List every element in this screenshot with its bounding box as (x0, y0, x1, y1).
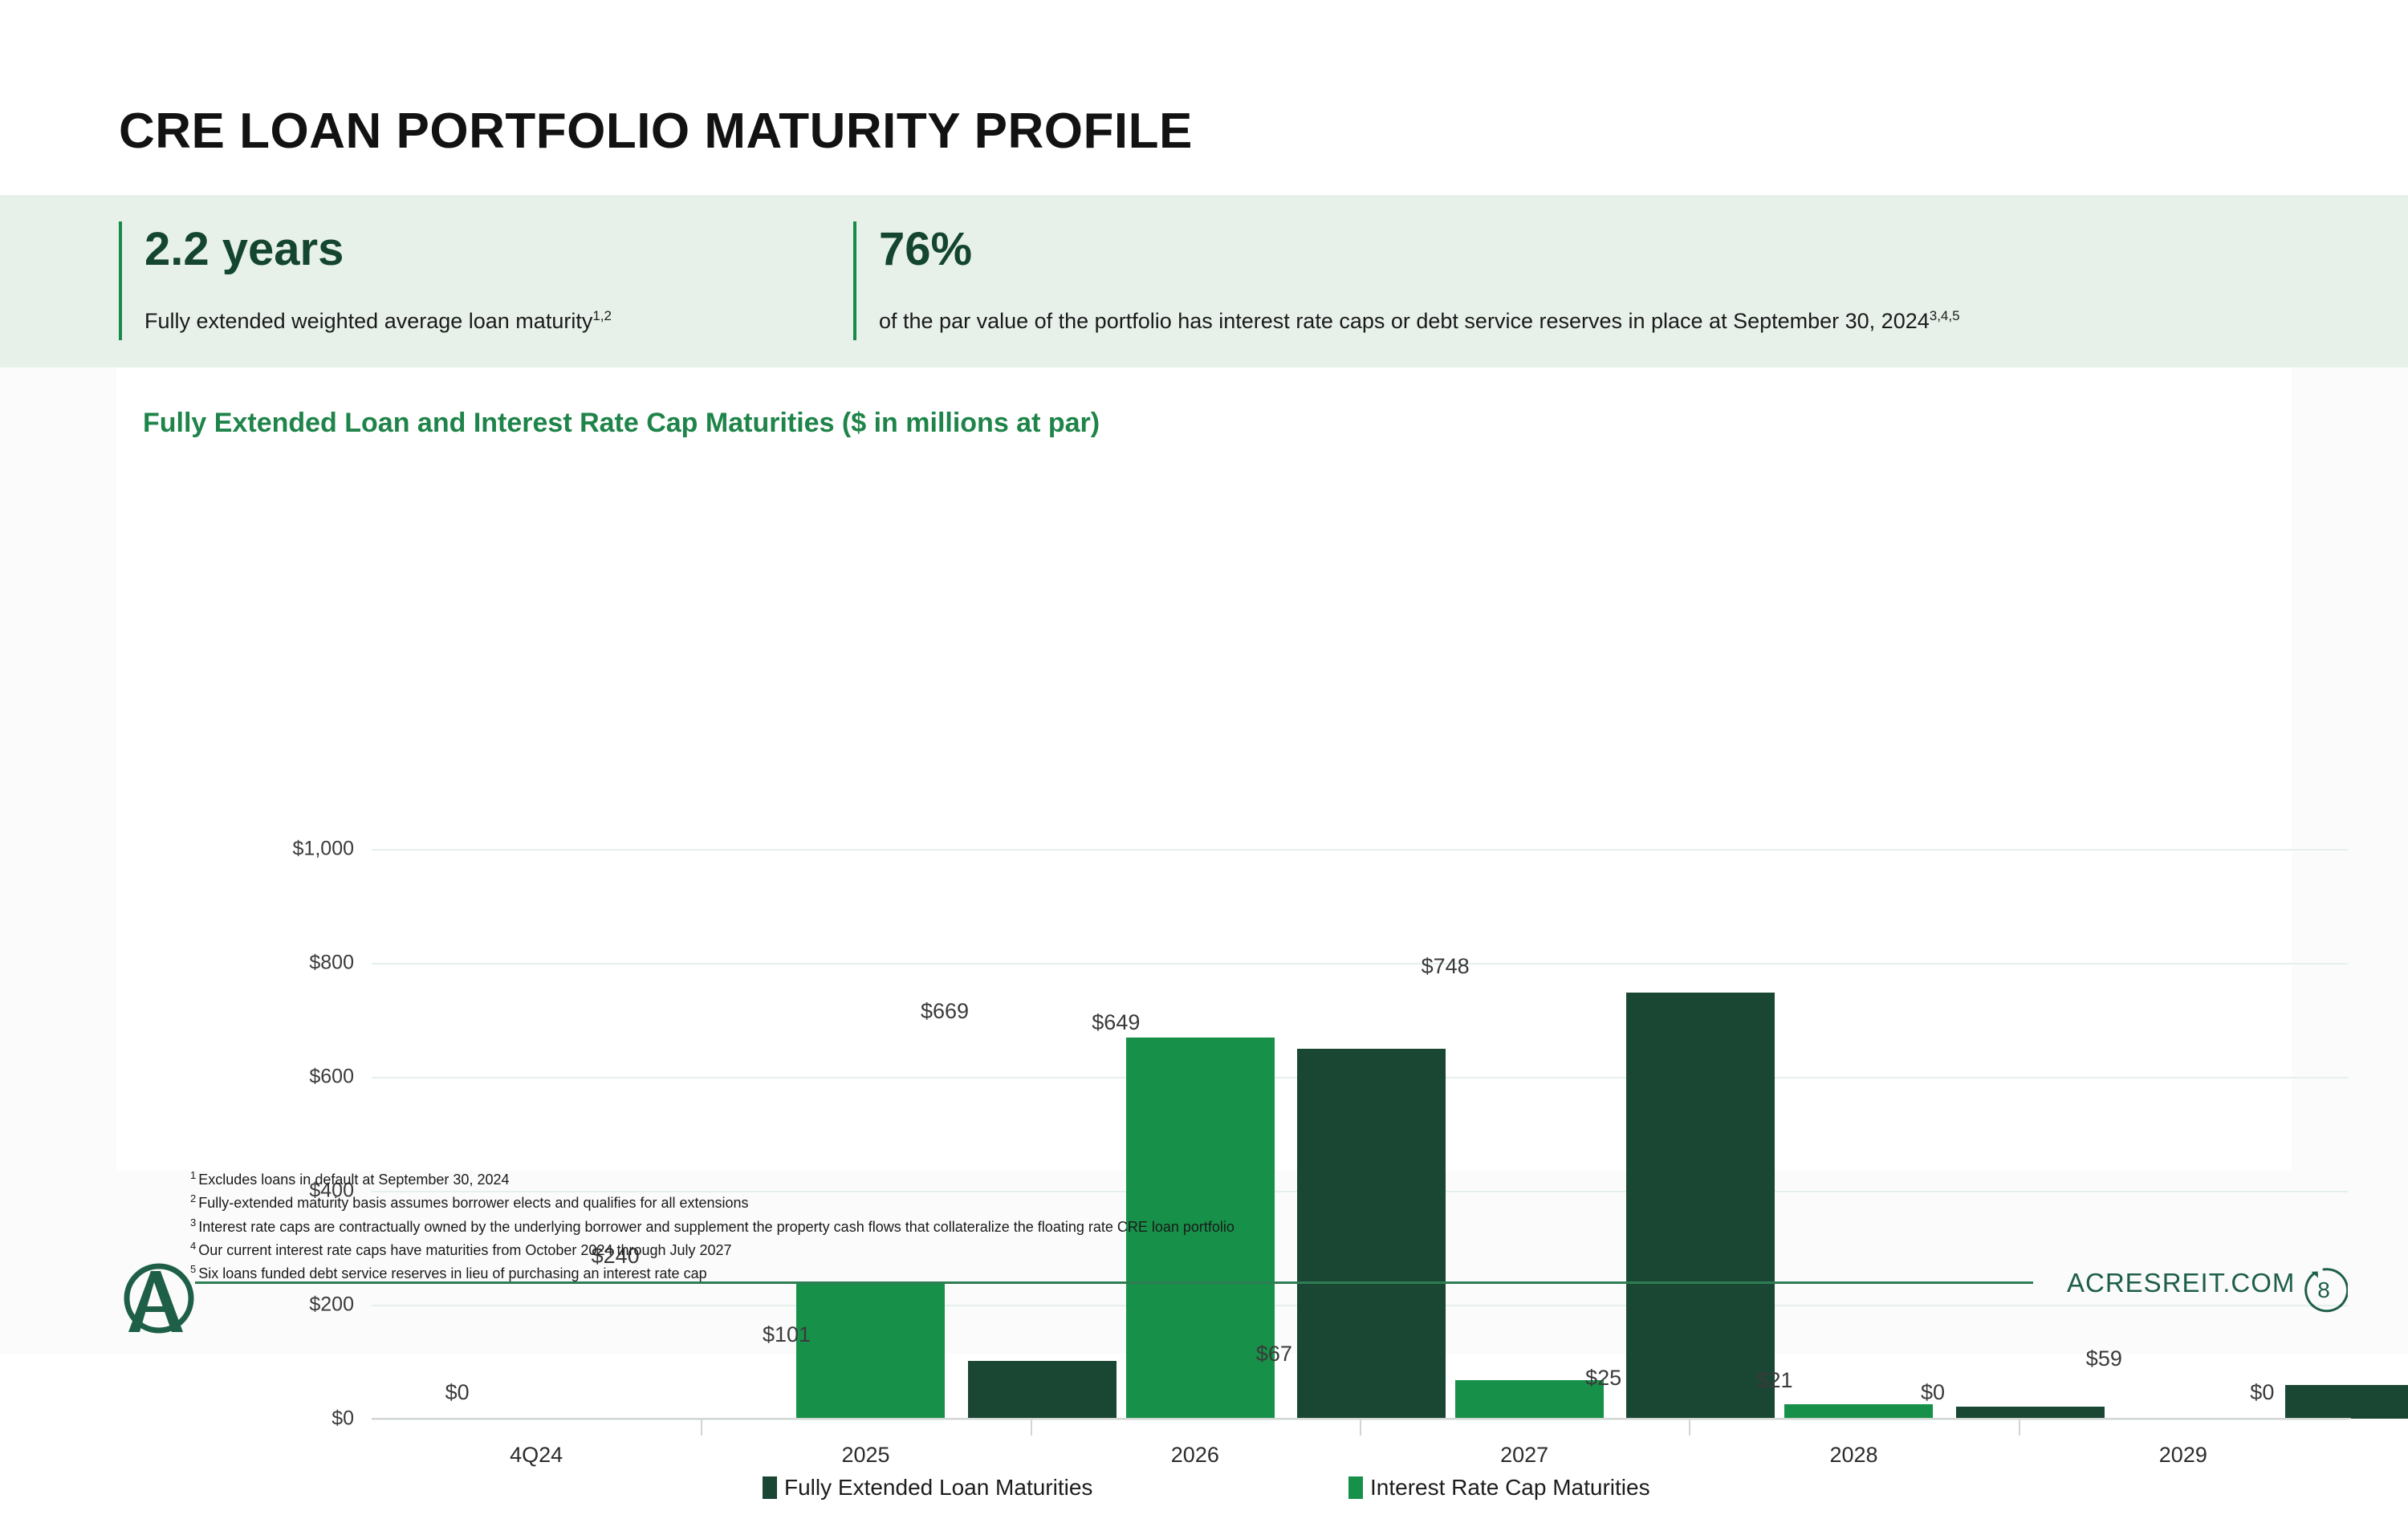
bar-2029-loan[interactable] (2285, 1385, 2408, 1419)
legend-item-cap-maturities[interactable]: Interest Rate Cap Maturities (1348, 1475, 1650, 1501)
page-number: 8 (2300, 1266, 2348, 1314)
bar-value-label: $21 (1756, 1368, 1792, 1393)
x-axis-tick (1360, 1419, 1361, 1436)
bar-value-label: $25 (1585, 1366, 1621, 1391)
legend-swatch-icon (1348, 1476, 1363, 1499)
footnote: 1Excludes loans in default at September … (190, 1168, 1956, 1191)
x-axis-category-label: 2027 (1500, 1443, 1548, 1468)
chart-legend: Fully Extended Loan MaturitiesInterest R… (116, 1475, 2292, 1523)
footnote-text: Six loans funded debt service reserves i… (198, 1265, 706, 1281)
gridline (372, 963, 2348, 965)
stat-description-text: of the par value of the portfolio has in… (879, 309, 1930, 333)
stat-card-loan-maturity: 2.2 years Fully extended weighted averag… (119, 221, 344, 340)
legend-swatch-icon (763, 1476, 777, 1499)
bar-2025-loan[interactable] (968, 1361, 1117, 1419)
bar-value-label: $59 (2086, 1346, 2122, 1371)
footnote: 4Our current interest rate caps have mat… (190, 1238, 1956, 1261)
bar-value-label: $0 (445, 1380, 470, 1405)
footnote: 3Interest rate caps are contractually ow… (190, 1215, 1956, 1238)
stat-value-loan-maturity: 2.2 years (144, 226, 344, 273)
stat-value-rate-caps: 76% (879, 226, 972, 273)
footnote-marker: 1 (190, 1169, 196, 1181)
x-axis-tick (1689, 1419, 1690, 1436)
page-title: CRE LOAN PORTFOLIO MATURITY PROFILE (119, 103, 1193, 160)
acres-logo-icon (112, 1258, 202, 1348)
x-axis-category-label: 4Q24 (510, 1443, 563, 1468)
footer-website: ACRESREIT.COM (2067, 1268, 2295, 1298)
x-axis-tick (1031, 1419, 1032, 1436)
footer-divider (195, 1281, 2033, 1284)
bar-value-label: $748 (1422, 954, 1470, 979)
y-axis-tick-label: $1,000 (145, 838, 354, 861)
stat-footnote-ref: 3,4,5 (1930, 308, 1960, 323)
footnote-marker: 2 (190, 1192, 196, 1204)
bar-value-label: $669 (921, 999, 969, 1024)
x-axis-baseline (372, 1418, 2351, 1419)
footnote-marker: 3 (190, 1216, 196, 1229)
chart-panel: Fully Extended Loan and Interest Rate Ca… (116, 368, 2292, 1171)
bar-2026-cap[interactable] (1455, 1380, 1604, 1419)
bar-value-label: $649 (1092, 1010, 1140, 1035)
footnote-text: Our current interest rate caps have matu… (198, 1242, 731, 1258)
x-axis-category-label: 2026 (1171, 1443, 1219, 1468)
stat-card-rate-caps: 76% of the par value of the portfolio ha… (853, 221, 972, 340)
x-axis-category-label: 2025 (841, 1443, 889, 1468)
footnote: 2Fully-extended maturity basis assumes b… (190, 1191, 1956, 1214)
bar-2027-cap[interactable] (1784, 1404, 1933, 1419)
y-axis-tick-label: $0 (145, 1407, 354, 1431)
bar-2028-loan[interactable] (1956, 1407, 2105, 1419)
footnotes: 1Excludes loans in default at September … (190, 1168, 1956, 1285)
x-axis-tick (701, 1419, 702, 1436)
bar-value-label: $0 (1921, 1380, 1945, 1405)
x-axis-tick (2019, 1419, 2020, 1436)
x-axis-category-label: 2028 (1829, 1443, 1877, 1468)
legend-label: Fully Extended Loan Maturities (784, 1475, 1092, 1501)
bar-value-label: $0 (2250, 1380, 2274, 1405)
footnote-marker: 4 (190, 1240, 196, 1252)
stat-footnote-ref: 1,2 (592, 308, 612, 323)
x-axis-category-label: 2029 (2159, 1443, 2207, 1468)
highlight-band: 2.2 years Fully extended weighted averag… (0, 195, 2408, 368)
footnote-text: Excludes loans in default at September 3… (198, 1172, 509, 1188)
plot-area (372, 849, 2348, 1419)
y-axis-tick-label: $600 (145, 1066, 354, 1089)
legend-label: Interest Rate Cap Maturities (1370, 1475, 1650, 1501)
stat-description-text: Fully extended weighted average loan mat… (144, 309, 592, 333)
stat-description-loan-maturity: Fully extended weighted average loan mat… (144, 308, 612, 334)
gridline (372, 849, 2348, 851)
bar-value-label: $101 (763, 1322, 811, 1347)
bar-4Q24-cap[interactable] (796, 1282, 945, 1419)
y-axis-tick-label: $800 (145, 952, 354, 975)
legend-item-loan-maturities[interactable]: Fully Extended Loan Maturities (763, 1475, 1092, 1501)
chart-title: Fully Extended Loan and Interest Rate Ca… (143, 408, 1100, 439)
stat-description-rate-caps: of the par value of the portfolio has in… (879, 308, 1960, 334)
bar-value-label: $67 (1256, 1342, 1292, 1367)
footnote-text: Fully-extended maturity basis assumes bo… (198, 1195, 748, 1211)
footnote-text: Interest rate caps are contractually own… (198, 1219, 1235, 1235)
